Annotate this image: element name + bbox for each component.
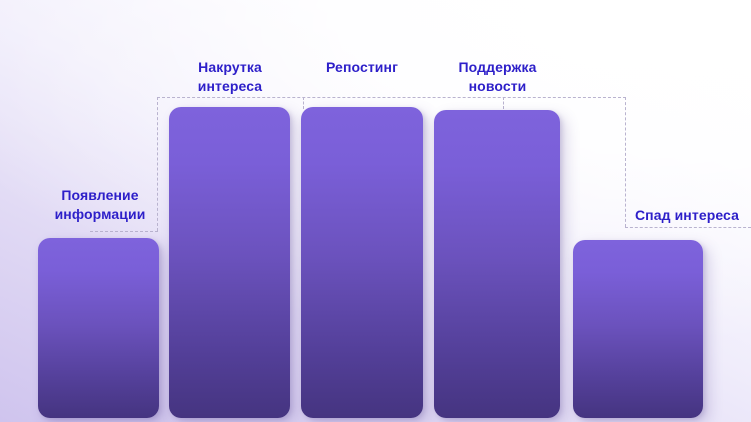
guide-line-horizontal — [90, 231, 158, 232]
infographic-canvas: Появление информации Накрутка интереса Р… — [0, 0, 751, 422]
bar-appearance-of-information — [38, 238, 159, 418]
bar-label-news-support: Поддержка новости — [440, 58, 555, 96]
bar-label-interest-decline: Спад интереса — [531, 206, 739, 225]
bar-reposting — [301, 107, 423, 418]
guide-line-horizontal — [625, 227, 751, 228]
guide-line-horizontal — [157, 97, 626, 98]
guide-line-vertical — [157, 97, 158, 231]
guide-line-vertical — [303, 97, 304, 109]
bar-interest-boost — [169, 107, 290, 418]
bar-label-appearance-of-information: Появление информации — [45, 186, 155, 224]
guide-line-vertical — [503, 97, 504, 109]
bar-news-support — [434, 110, 560, 418]
bar-label-reposting: Репостинг — [307, 58, 417, 77]
bar-label-interest-boost: Накрутка интереса — [175, 58, 285, 96]
bar-interest-decline — [573, 240, 703, 418]
